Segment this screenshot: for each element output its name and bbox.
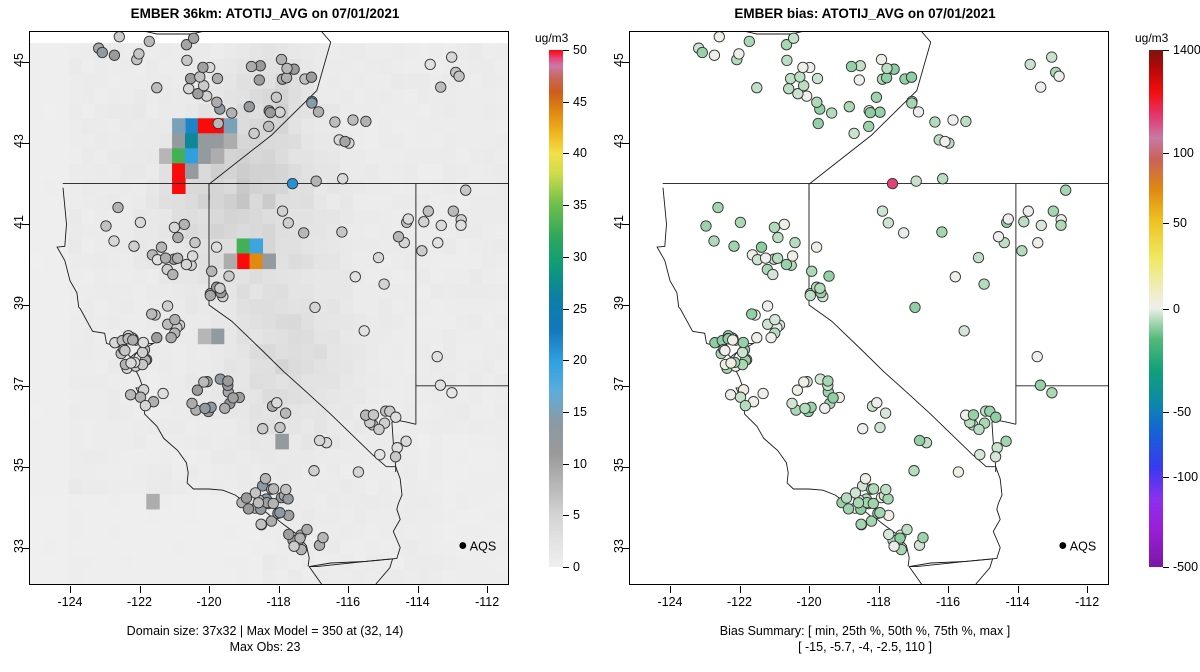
aqs-observation-marker[interactable]	[740, 400, 750, 410]
aqs-observation-marker[interactable]	[299, 228, 309, 238]
model-grid-cell	[185, 299, 199, 315]
aqs-observation-marker[interactable]	[128, 335, 138, 345]
aqs-observation-marker[interactable]	[1033, 238, 1043, 248]
aqs-observation-marker[interactable]	[950, 272, 960, 282]
aqs-observation-marker[interactable]	[948, 115, 958, 125]
model-grid-cell	[30, 344, 44, 360]
aqs-observation-marker[interactable]	[199, 377, 209, 387]
aqs-observation-marker[interactable]	[179, 219, 189, 229]
aqs-observation-marker[interactable]	[1047, 52, 1057, 62]
aqs-observation-marker[interactable]	[447, 388, 457, 398]
aqs-observation-marker[interactable]	[968, 410, 978, 420]
aqs-observation-marker[interactable]	[280, 408, 290, 418]
aqs-observation-marker[interactable]	[973, 252, 983, 262]
aqs-observation-marker[interactable]	[272, 398, 282, 408]
aqs-observation-marker[interactable]	[910, 302, 920, 312]
aqs-observation-marker[interactable]	[820, 403, 830, 413]
aqs-observation-marker[interactable]	[173, 232, 183, 242]
aqs-observation-marker[interactable]	[812, 73, 822, 83]
aqs-observation-marker[interactable]	[97, 47, 107, 57]
model-grid-cell	[469, 464, 483, 480]
model-grid-cell-highvalue	[237, 238, 251, 254]
aqs-observation-marker[interactable]	[310, 302, 320, 312]
aqs-observation-marker[interactable]	[243, 504, 253, 514]
aqs-observation-marker[interactable]	[868, 498, 878, 508]
aqs-observation-marker[interactable]	[425, 59, 435, 69]
aqs-observation-marker[interactable]	[728, 335, 738, 345]
aqs-observation-marker[interactable]	[1061, 185, 1071, 195]
aqs-observation-marker[interactable]	[1036, 220, 1046, 230]
model-grid-cell	[495, 449, 508, 465]
aqs-observation-marker[interactable]	[433, 238, 443, 248]
aqs-observation-marker[interactable]	[697, 47, 707, 57]
model-grid-cell	[482, 88, 496, 104]
aqs-observation-marker[interactable]	[790, 237, 800, 247]
aqs-observation-marker[interactable]	[889, 541, 899, 551]
aqs-observation-marker[interactable]	[254, 75, 264, 85]
aqs-observation-marker[interactable]	[875, 422, 885, 432]
aqs-observation-marker[interactable]	[860, 474, 870, 484]
aqs-observation-marker[interactable]	[160, 253, 170, 263]
aqs-observation-marker[interactable]	[884, 529, 894, 539]
aqs-observation-marker[interactable]	[265, 107, 275, 117]
aqs-observation-marker[interactable]	[268, 484, 278, 494]
aqs-observation-marker[interactable]	[953, 467, 963, 477]
aqs-observation-marker[interactable]	[435, 380, 445, 390]
model-grid-cell	[146, 58, 160, 74]
aqs-observation-marker[interactable]	[714, 32, 724, 42]
aqs-observation-marker[interactable]	[138, 337, 148, 347]
model-grid-cell	[353, 88, 367, 104]
aqs-observation-marker[interactable]	[770, 314, 780, 324]
model-grid-cell	[43, 133, 57, 149]
aqs-observation-marker[interactable]	[930, 117, 940, 127]
aqs-observation-marker[interactable]	[781, 259, 791, 269]
aqs-legend-label: AQS	[470, 540, 496, 554]
aqs-observation-marker[interactable]	[709, 236, 719, 246]
aqs-observation-marker[interactable]	[166, 332, 176, 342]
aqs-observation-marker[interactable]	[249, 128, 259, 138]
aqs-observation-marker[interactable]	[338, 174, 348, 184]
aqs-observation-marker[interactable]	[227, 108, 237, 118]
aqs-observation-marker[interactable]	[1025, 59, 1035, 69]
aqs-observation-marker[interactable]	[302, 524, 312, 534]
aqs-observation-marker[interactable]	[760, 253, 770, 263]
aqs-observation-marker[interactable]	[762, 301, 772, 311]
aqs-observation-marker[interactable]	[1003, 214, 1013, 224]
aqs-observation-marker[interactable]	[241, 493, 251, 503]
aqs-observation-marker[interactable]	[841, 493, 851, 503]
aqs-observation-marker[interactable]	[738, 337, 748, 347]
aqs-observation-marker[interactable]	[134, 49, 144, 59]
aqs-observation-marker[interactable]	[456, 220, 466, 230]
model-grid-cell	[250, 299, 264, 315]
panel-bias-title: EMBER bias: ATOTIJ_AVG on 07/01/2021	[600, 6, 1130, 21]
aqs-observation-marker[interactable]	[188, 33, 198, 43]
aqs-observation-marker[interactable]	[253, 498, 263, 508]
aqs-observation-marker[interactable]	[979, 279, 989, 289]
aqs-observation-marker[interactable]	[907, 98, 917, 108]
aqs-observation-marker[interactable]	[375, 449, 385, 459]
aqs-observation-marker[interactable]	[756, 242, 766, 252]
aqs-observation-marker[interactable]	[846, 61, 856, 71]
aqs-observation-marker[interactable]	[1019, 217, 1029, 227]
aqs-observation-marker[interactable]	[737, 347, 747, 357]
aqs-observation-marker[interactable]	[289, 541, 299, 551]
aqs-observation-marker[interactable]	[747, 309, 757, 319]
aqs-observation-marker[interactable]	[337, 227, 347, 237]
model-grid-cell	[327, 58, 341, 74]
aqs-observation-marker[interactable]	[992, 443, 1002, 453]
aqs-observation-marker[interactable]	[401, 436, 411, 446]
aqs-observation-marker[interactable]	[152, 333, 162, 343]
aqs-observation-marker[interactable]	[187, 398, 197, 408]
aqs-observation-marker[interactable]	[340, 136, 350, 146]
aqs-observation-marker[interactable]	[314, 435, 324, 445]
aqs-observation-marker[interactable]	[902, 524, 912, 534]
aqs-observation-marker[interactable]	[200, 403, 210, 413]
aqs-observation-marker[interactable]	[260, 474, 270, 484]
aqs-observation-marker[interactable]	[287, 178, 297, 188]
aqs-observation-marker[interactable]	[448, 206, 458, 216]
model-grid-cell	[146, 103, 160, 119]
aqs-observation-marker[interactable]	[1035, 380, 1045, 390]
aqs-observation-marker[interactable]	[185, 73, 195, 83]
aqs-observation-marker[interactable]	[283, 218, 293, 228]
model-grid-cell	[133, 464, 147, 480]
aqs-observation-marker[interactable]	[368, 410, 378, 420]
aqs-observation-marker[interactable]	[374, 424, 384, 434]
aqs-observation-marker[interactable]	[827, 108, 837, 118]
aqs-observation-marker[interactable]	[938, 174, 948, 184]
aqs-observation-marker[interactable]	[318, 532, 328, 542]
aqs-observation-marker[interactable]	[359, 326, 369, 336]
model-grid-cell	[95, 193, 109, 209]
aqs-observation-marker[interactable]	[799, 377, 809, 387]
model-grid-cell	[443, 329, 457, 345]
aqs-observation-marker[interactable]	[348, 115, 358, 125]
model-grid-cell	[30, 299, 44, 315]
aqs-observation-marker[interactable]	[875, 107, 885, 117]
aqs-observation-marker[interactable]	[773, 232, 783, 242]
aqs-observation-marker[interactable]	[156, 242, 166, 252]
aqs-observation-marker[interactable]	[824, 271, 834, 281]
aqs-observation-marker[interactable]	[868, 484, 878, 494]
aqs-observation-marker[interactable]	[447, 52, 457, 62]
model-grid-cell	[133, 524, 147, 540]
aqs-observation-marker[interactable]	[913, 107, 923, 117]
aqs-observation-marker[interactable]	[828, 393, 838, 403]
model-grid-cell	[30, 329, 44, 345]
aqs-observation-marker[interactable]	[990, 452, 1000, 462]
aqs-observation-marker[interactable]	[135, 217, 145, 227]
aqs-observation-marker[interactable]	[856, 519, 866, 529]
aqs-observation-marker[interactable]	[752, 83, 762, 93]
aqs-observation-marker[interactable]	[277, 206, 287, 216]
aqs-observation-marker[interactable]	[734, 49, 744, 59]
aqs-observation-marker[interactable]	[858, 424, 868, 434]
aqs-observation-marker[interactable]	[284, 529, 294, 539]
colorbar-tick-label: 35	[573, 198, 587, 212]
aqs-observation-marker[interactable]	[779, 219, 789, 229]
aqs-observation-marker[interactable]	[220, 403, 230, 413]
aqs-observation-marker[interactable]	[720, 345, 730, 355]
aqs-observation-marker[interactable]	[281, 73, 291, 83]
model-grid-cell	[275, 253, 289, 269]
aqs-observation-marker[interactable]	[713, 202, 723, 212]
aqs-observation-marker[interactable]	[914, 435, 924, 445]
aqs-observation-marker[interactable]	[436, 220, 446, 230]
model-grid-cell	[443, 359, 457, 375]
aqs-observation-marker[interactable]	[800, 403, 810, 413]
aqs-observation-marker[interactable]	[883, 218, 893, 228]
model-grid-cell	[159, 374, 173, 390]
aqs-observation-marker[interactable]	[390, 452, 400, 462]
aqs-observation-marker[interactable]	[350, 272, 360, 282]
model-grid-cell	[69, 208, 83, 224]
aqs-observation-marker[interactable]	[454, 71, 464, 81]
aqs-observation-marker[interactable]	[993, 232, 1003, 242]
aqs-observation-marker[interactable]	[1056, 220, 1066, 230]
aqs-observation-marker[interactable]	[275, 107, 285, 117]
aqs-observation-marker[interactable]	[875, 508, 885, 518]
aqs-observation-marker[interactable]	[264, 121, 274, 131]
aqs-observation-marker[interactable]	[311, 176, 321, 186]
aqs-observation-marker[interactable]	[244, 102, 254, 112]
aqs-observation-marker[interactable]	[182, 55, 192, 65]
aqs-observation-marker[interactable]	[881, 484, 891, 494]
aqs-observation-marker[interactable]	[849, 128, 859, 138]
aqs-observation-marker[interactable]	[419, 217, 429, 227]
aqs-observation-marker[interactable]	[281, 484, 291, 494]
aqs-observation-marker[interactable]	[1001, 436, 1011, 446]
aqs-observation-marker[interactable]	[887, 178, 897, 188]
aqs-observation-marker[interactable]	[181, 259, 191, 269]
aqs-observation-marker[interactable]	[212, 97, 222, 107]
aqs-observation-marker[interactable]	[391, 412, 401, 422]
aqs-observation-marker[interactable]	[195, 72, 205, 82]
aqs-observation-marker[interactable]	[423, 206, 433, 216]
aqs-observation-marker[interactable]	[158, 388, 168, 398]
model-grid-cell	[430, 554, 444, 570]
aqs-observation-marker[interactable]	[207, 266, 217, 276]
aqs-observation-marker[interactable]	[283, 494, 293, 504]
aqs-observation-marker[interactable]	[125, 390, 135, 400]
aqs-observation-marker[interactable]	[246, 61, 256, 71]
aqs-observation-marker[interactable]	[788, 33, 798, 43]
aqs-observation-marker[interactable]	[807, 266, 817, 276]
model-grid-cell	[198, 434, 212, 450]
aqs-observation-marker[interactable]	[129, 241, 139, 251]
aqs-observation-marker[interactable]	[392, 443, 402, 453]
aqs-observation-marker[interactable]	[211, 242, 221, 252]
aqs-observation-marker[interactable]	[353, 467, 363, 477]
aqs-observation-marker[interactable]	[432, 351, 442, 361]
aqs-observation-marker[interactable]	[768, 269, 778, 279]
aqs-observation-marker[interactable]	[881, 73, 891, 83]
aqs-observation-marker[interactable]	[361, 116, 371, 126]
model-grid-cell	[43, 73, 57, 89]
aqs-observation-marker[interactable]	[701, 221, 711, 231]
model-grid-cell	[340, 389, 354, 405]
aqs-observation-marker[interactable]	[880, 408, 890, 418]
model-grid-cell	[224, 524, 238, 540]
aqs-observation-marker[interactable]	[436, 82, 446, 92]
aqs-legend-dot-icon	[459, 542, 466, 549]
aqs-observation-marker[interactable]	[877, 206, 887, 216]
aqs-observation-marker[interactable]	[871, 92, 881, 102]
aqs-observation-marker[interactable]	[853, 498, 863, 508]
aqs-observation-marker[interactable]	[403, 214, 413, 224]
aqs-observation-marker[interactable]	[975, 449, 985, 459]
model-grid-cell	[327, 509, 341, 525]
aqs-observation-marker[interactable]	[147, 309, 157, 319]
model-grid-cell	[237, 434, 251, 450]
aqs-observation-marker[interactable]	[864, 121, 874, 131]
aqs-observation-marker[interactable]	[974, 424, 984, 434]
aqs-observation-marker[interactable]	[109, 50, 119, 60]
aqs-observation-marker[interactable]	[282, 63, 292, 73]
aqs-observation-marker[interactable]	[417, 246, 427, 256]
model-grid-cell	[185, 314, 199, 330]
model-grid-cell	[327, 524, 341, 540]
model-grid-cell	[443, 118, 457, 134]
aqs-observation-marker[interactable]	[872, 398, 882, 408]
aqs-observation-marker[interactable]	[782, 55, 792, 65]
aqs-observation-marker[interactable]	[766, 332, 776, 342]
aqs-observation-marker[interactable]	[198, 62, 208, 72]
aqs-observation-marker[interactable]	[709, 50, 719, 60]
aqs-observation-marker[interactable]	[330, 117, 340, 127]
aqs-observation-marker[interactable]	[256, 519, 266, 529]
aqs-observation-marker[interactable]	[1036, 82, 1046, 92]
model-grid-cell	[482, 389, 496, 405]
aqs-observation-marker[interactable]	[393, 232, 403, 242]
aqs-observation-marker[interactable]	[109, 236, 119, 246]
model-grid-cell	[482, 449, 496, 465]
aqs-observation-marker[interactable]	[961, 116, 971, 126]
aqs-observation-marker[interactable]	[1032, 351, 1042, 361]
model-grid-cell	[82, 404, 96, 420]
aqs-observation-marker[interactable]	[811, 242, 821, 252]
aqs-observation-marker[interactable]	[215, 283, 225, 293]
x-axis-tick-label: -122	[727, 595, 752, 609]
aqs-observation-marker[interactable]	[991, 412, 1001, 422]
aqs-observation-marker[interactable]	[785, 73, 795, 83]
aqs-observation-marker[interactable]	[275, 422, 285, 432]
aqs-observation-marker[interactable]	[168, 269, 178, 279]
aqs-observation-marker[interactable]	[823, 376, 833, 386]
aqs-observation-marker[interactable]	[169, 222, 179, 232]
aqs-observation-marker[interactable]	[1047, 388, 1057, 398]
aqs-observation-marker[interactable]	[190, 237, 200, 247]
model-grid-cell	[56, 539, 70, 555]
aqs-observation-marker[interactable]	[137, 347, 147, 357]
aqs-observation-marker[interactable]	[843, 504, 853, 514]
aqs-observation-marker[interactable]	[223, 376, 233, 386]
aqs-observation-marker[interactable]	[379, 279, 389, 289]
map-boundary-line	[657, 188, 909, 567]
aqs-observation-marker[interactable]	[795, 72, 805, 82]
aqs-observation-marker[interactable]	[726, 358, 736, 368]
aqs-observation-marker[interactable]	[815, 283, 825, 293]
aqs-observation-marker[interactable]	[140, 400, 150, 410]
aqs-observation-marker[interactable]	[787, 398, 797, 408]
aqs-observation-marker[interactable]	[114, 32, 124, 42]
model-grid-cell	[314, 238, 328, 254]
aqs-observation-marker[interactable]	[275, 508, 285, 518]
aqs-observation-marker[interactable]	[162, 301, 172, 311]
aqs-observation-marker[interactable]	[899, 228, 909, 238]
aqs-observation-marker[interactable]	[258, 424, 268, 434]
aqs-observation-marker[interactable]	[735, 217, 745, 227]
aqs-observation-marker[interactable]	[959, 326, 969, 336]
aqs-observation-marker[interactable]	[744, 36, 754, 46]
model-grid-cell	[82, 374, 96, 390]
aqs-observation-marker[interactable]	[268, 498, 278, 508]
aqs-observation-marker[interactable]	[812, 97, 822, 107]
aqs-observation-marker[interactable]	[798, 62, 808, 72]
aqs-observation-marker[interactable]	[882, 63, 892, 73]
aqs-observation-marker[interactable]	[306, 72, 316, 82]
aqs-observation-marker[interactable]	[1054, 71, 1064, 81]
aqs-observation-marker[interactable]	[752, 333, 762, 343]
aqs-observation-marker[interactable]	[906, 72, 916, 82]
aqs-observation-marker[interactable]	[729, 241, 739, 251]
aqs-observation-marker[interactable]	[307, 98, 317, 108]
aqs-observation-marker[interactable]	[120, 345, 130, 355]
aqs-observation-marker[interactable]	[725, 390, 735, 400]
aqs-observation-marker[interactable]	[228, 393, 238, 403]
aqs-observation-marker[interactable]	[271, 92, 281, 102]
aqs-observation-marker[interactable]	[224, 271, 234, 281]
aqs-observation-marker[interactable]	[184, 84, 194, 94]
aqs-observation-marker[interactable]	[309, 466, 319, 476]
aqs-observation-marker[interactable]	[784, 84, 794, 94]
aqs-observation-marker[interactable]	[313, 107, 323, 117]
aqs-observation-marker[interactable]	[126, 358, 136, 368]
aqs-observation-marker[interactable]	[844, 102, 854, 112]
aqs-observation-marker[interactable]	[911, 176, 921, 186]
aqs-observation-marker[interactable]	[1017, 246, 1027, 256]
aqs-observation-marker[interactable]	[758, 388, 768, 398]
model-grid-cell	[469, 404, 483, 420]
aqs-observation-marker[interactable]	[769, 222, 779, 232]
aqs-observation-marker[interactable]	[865, 107, 875, 117]
aqs-observation-marker[interactable]	[461, 185, 471, 195]
aqs-observation-marker[interactable]	[113, 202, 123, 212]
aqs-observation-marker[interactable]	[212, 73, 222, 83]
aqs-observation-marker[interactable]	[883, 494, 893, 504]
aqs-observation-marker[interactable]	[101, 221, 111, 231]
model-grid-cell	[95, 299, 109, 315]
aqs-observation-marker[interactable]	[1023, 206, 1033, 216]
aqs-observation-marker[interactable]	[152, 83, 162, 93]
aqs-observation-marker[interactable]	[854, 75, 864, 85]
aqs-observation-marker[interactable]	[918, 532, 928, 542]
aqs-observation-marker[interactable]	[373, 252, 383, 262]
aqs-observation-marker[interactable]	[909, 466, 919, 476]
aqs-observation-marker[interactable]	[1048, 206, 1058, 216]
aqs-observation-marker[interactable]	[172, 253, 182, 263]
aqs-observation-marker[interactable]	[772, 253, 782, 263]
aqs-observation-marker[interactable]	[940, 136, 950, 146]
aqs-observation-marker[interactable]	[937, 227, 947, 237]
aqs-observation-marker[interactable]	[813, 118, 823, 128]
aqs-observation-marker[interactable]	[213, 118, 223, 128]
aqs-observation-marker[interactable]	[170, 314, 180, 324]
aqs-observation-marker[interactable]	[144, 36, 154, 46]
